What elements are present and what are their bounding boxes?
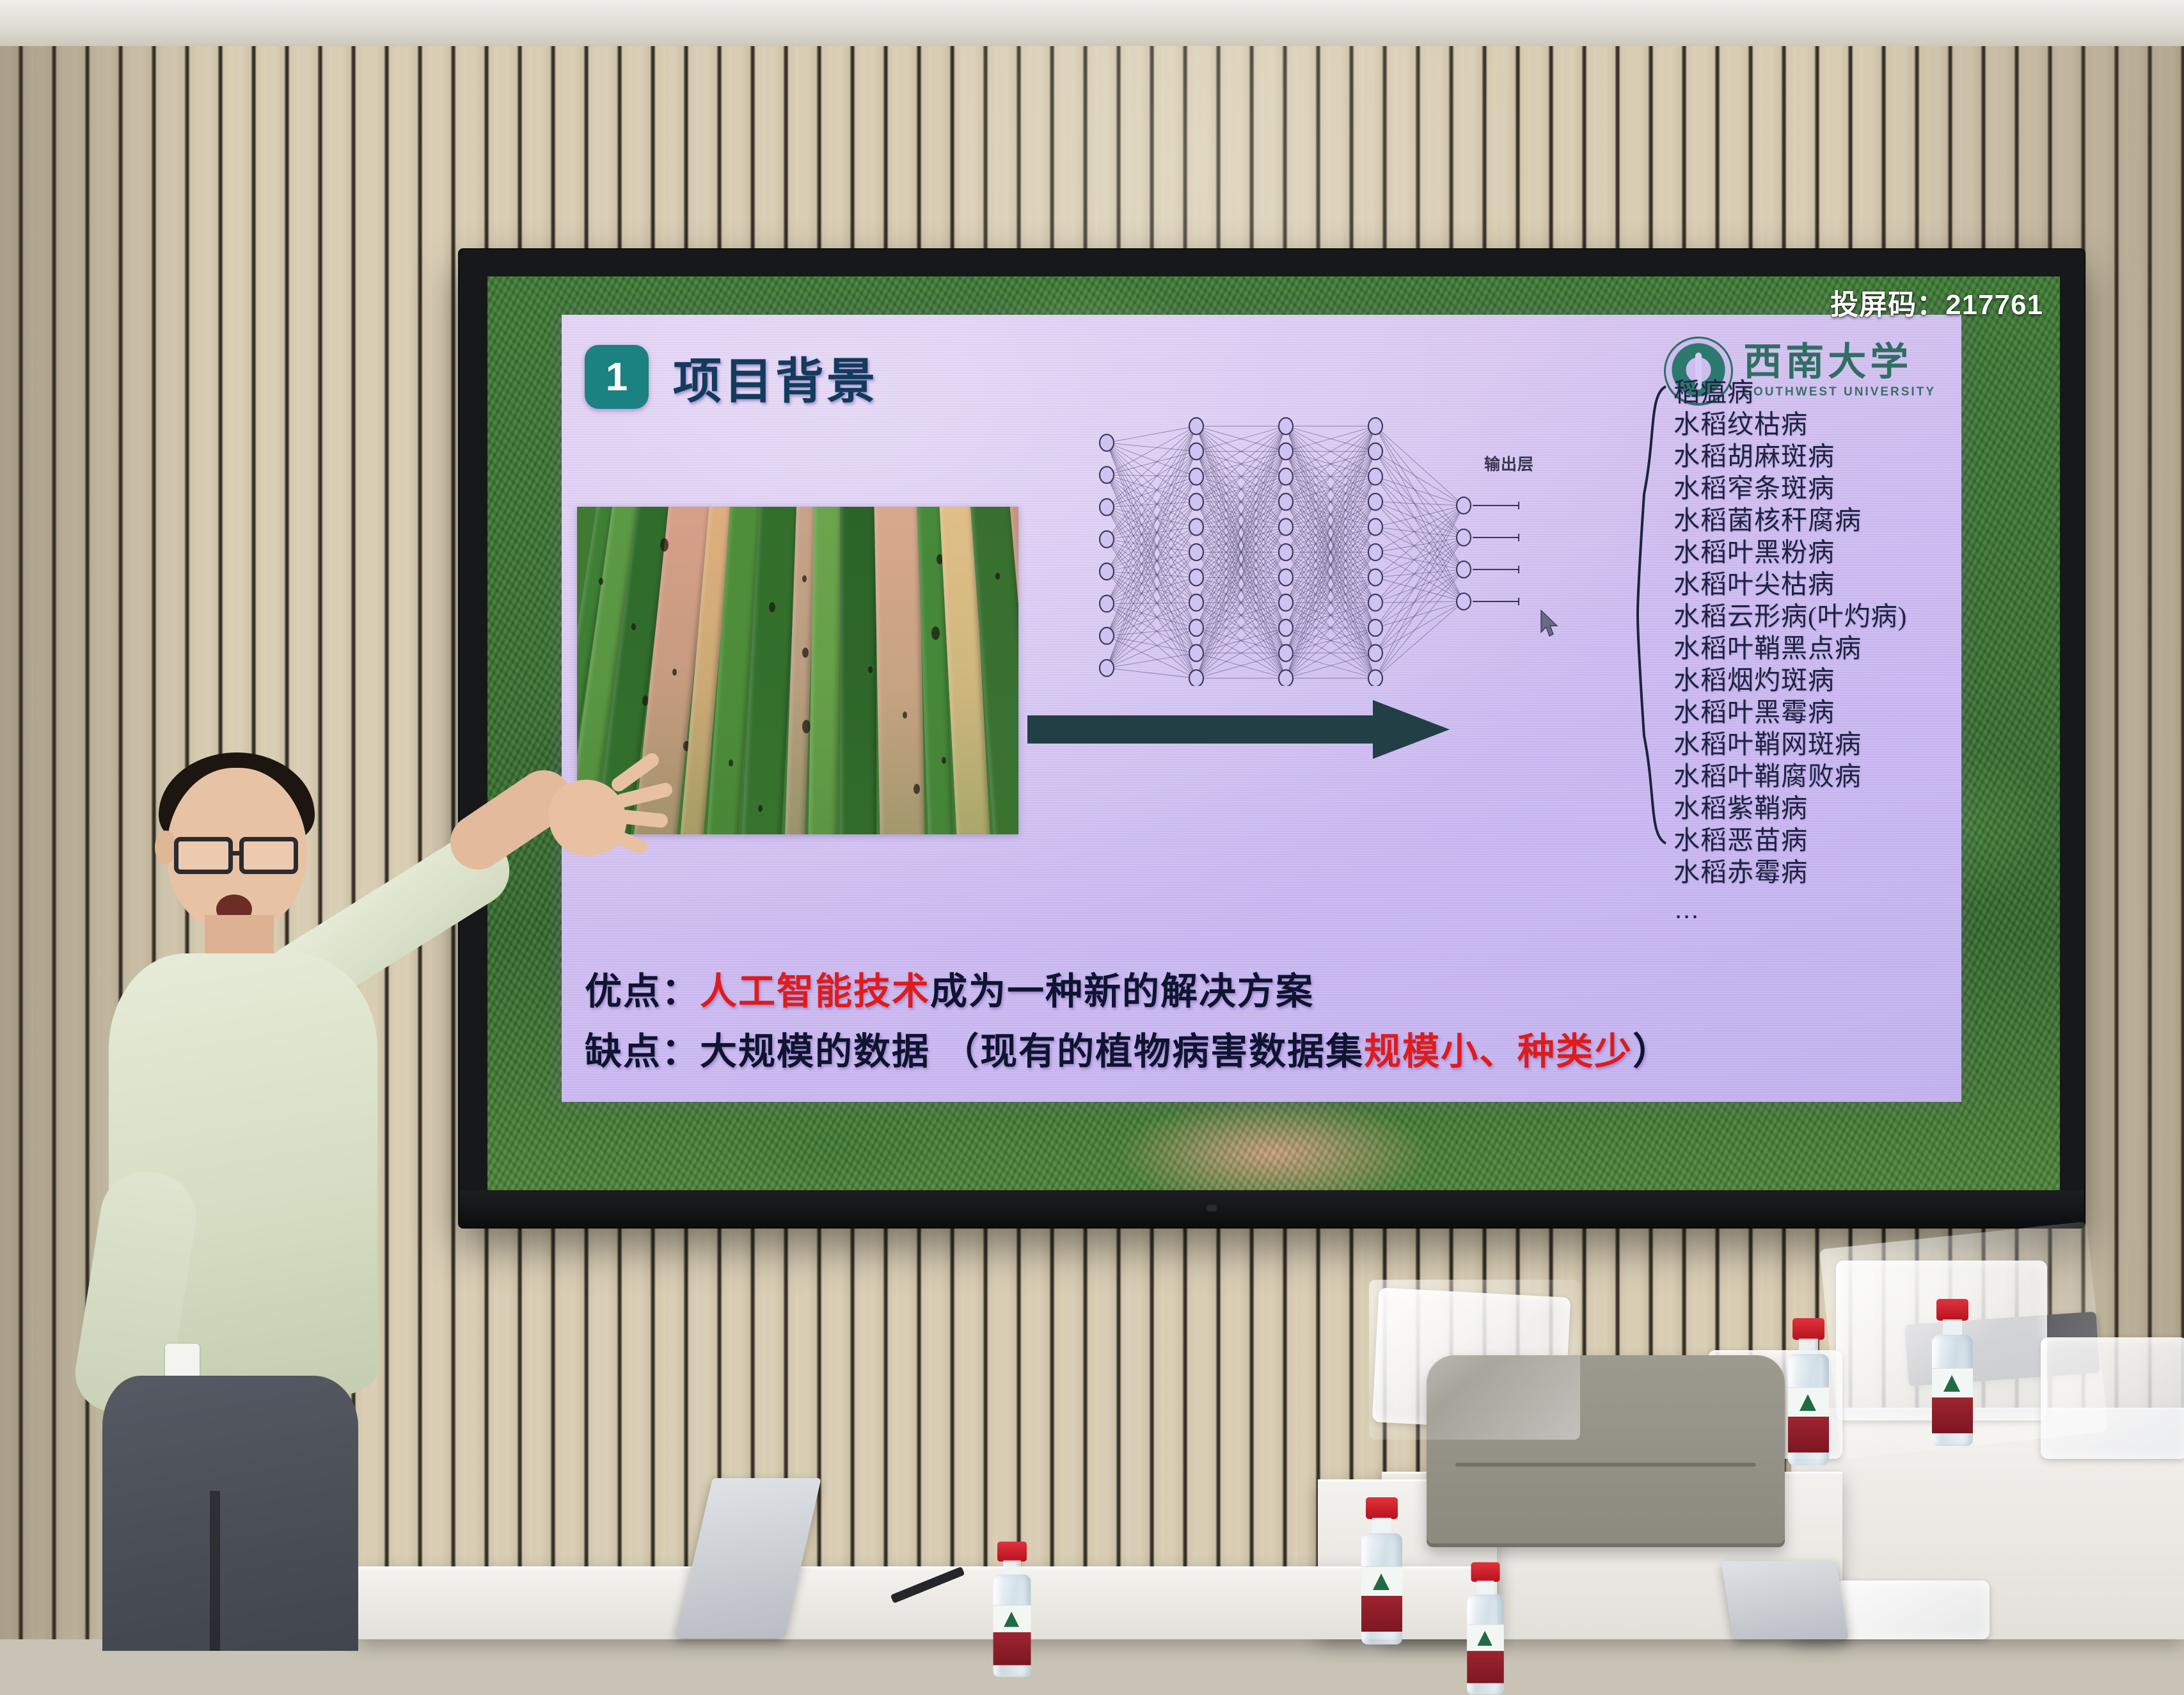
disease-list-item: 稻瘟病	[1674, 376, 1907, 408]
advantage-highlight: 人工智能技术	[700, 971, 930, 1012]
water-bottle-2[interactable]	[1932, 1299, 1973, 1446]
leaf-lesion-spot	[758, 805, 763, 812]
bottle-label-lower	[1788, 1417, 1829, 1452]
leaf-lesion-spot	[769, 602, 775, 612]
leaf-lesion-spot	[660, 538, 669, 552]
display-screen[interactable]: 投屏码：217761 1 项目背景 西南大学 SOUTHWEST UNIVERS…	[487, 276, 2060, 1190]
bottle-label-lower	[1467, 1651, 1504, 1683]
leaf-lesion-spot	[802, 648, 809, 658]
projection-code-label: 投屏码：217761	[1830, 282, 2043, 322]
slide-header: 1 项目背景	[585, 342, 878, 412]
disease-list-item: 水稻纹枯病	[1674, 408, 1907, 440]
leaf-lesion-spot	[729, 760, 733, 767]
table-papers	[1836, 1580, 1990, 1639]
bottle-label-upper	[993, 1605, 1031, 1632]
disease-list-item: 水稻叶黑粉病	[1674, 536, 1907, 568]
leaf-lesion-spot	[631, 623, 636, 630]
bottle-label-upper	[1788, 1387, 1829, 1417]
water-bottle-5[interactable]	[993, 1541, 1031, 1677]
disease-list-item: 水稻叶尖枯病	[1674, 568, 1907, 600]
conference-room: 投屏码：217761 1 项目背景 西南大学 SOUTHWEST UNIVERS…	[0, 0, 2184, 1639]
disease-list-item: 水稻叶鞘腐败病	[1674, 760, 1907, 792]
conclusion-text-block: 优点：人工智能技术成为一种新的解决方案 缺点：大规模的数据 （现有的植物病害数据…	[585, 961, 1671, 1075]
leaf-lesion-spot	[914, 784, 920, 794]
curly-brace-icon	[1636, 385, 1667, 845]
leaf-lesion-spot	[931, 626, 940, 640]
bottle-cap	[1471, 1563, 1500, 1582]
leaf-lesion-spot	[599, 578, 603, 585]
presenter-person	[13, 729, 499, 1644]
presenter-leg-seam	[210, 1491, 220, 1651]
bottle-label-upper	[1361, 1566, 1402, 1596]
neural-network-diagram: 输出层	[1080, 417, 1528, 686]
presenter-trousers	[102, 1376, 358, 1651]
disease-list-item: 水稻菌核秆腐病	[1674, 504, 1907, 536]
leaf-lesion-spot	[802, 575, 807, 582]
disease-list-more: …	[1674, 888, 1907, 930]
section-number-badge: 1	[585, 345, 649, 409]
disadvantage-suffix: ）	[1633, 1031, 1671, 1072]
flow-arrow-icon	[1027, 699, 1450, 760]
laptop-screen-right[interactable]	[1721, 1561, 1848, 1639]
disease-list-item: 水稻叶鞘黑点病	[1674, 632, 1907, 664]
bottle-cap	[997, 1541, 1027, 1561]
advantage-line: 优点：人工智能技术成为一种新的解决方案	[585, 961, 1671, 1015]
leaf-lesion-spot	[868, 666, 873, 673]
leaf-lesion-spot	[903, 712, 907, 719]
advantage-prefix: 优点：	[585, 971, 700, 1012]
presenter-glasses-bridge	[232, 851, 242, 855]
presentation-slide: 1 项目背景 西南大学 SOUTHWEST UNIVERSITY 输出层	[562, 315, 1961, 1102]
leaf-lesion-spot	[995, 573, 1000, 580]
bottle-label-lower	[1932, 1397, 1973, 1433]
disease-list-item: 水稻叶鞘网斑病	[1674, 728, 1907, 760]
disadvantage-line: 缺点：大规模的数据 （现有的植物病害数据集规模小、种类少）	[585, 1021, 1671, 1075]
plastic-sheet-2	[1369, 1280, 1580, 1440]
mouse-cursor-icon	[1540, 609, 1559, 637]
advantage-rest: 成为一种新的解决方案	[930, 971, 1314, 1012]
disease-list-item: 水稻云形病(叶灼病)	[1674, 600, 1907, 632]
disease-list-item: 水稻紫鞘病	[1674, 792, 1907, 824]
diseased-rice-leaves-photo	[577, 507, 1018, 834]
wall-display[interactable]: 投屏码：217761 1 项目背景 西南大学 SOUTHWEST UNIVERS…	[459, 250, 2084, 1227]
disadvantage-highlight: 规模小、种类少	[1364, 1031, 1633, 1072]
bottle-cap	[1792, 1318, 1824, 1340]
disease-list-item: 水稻叶黑霉病	[1674, 696, 1907, 728]
disease-list-item: 水稻胡麻斑病	[1674, 440, 1907, 472]
leaf-lesion-spot	[942, 757, 946, 764]
leaf-lesion-spot	[802, 720, 811, 733]
presenter-glasses-left-lens	[174, 837, 233, 874]
bottle-cap	[1366, 1497, 1398, 1519]
display-bottom-bezel	[459, 1190, 2084, 1227]
disease-list-item: 水稻烟灼斑病	[1674, 664, 1907, 696]
leaf-lesion-spot	[672, 669, 677, 676]
bottle-label-upper	[1467, 1625, 1504, 1651]
page-title: 项目背景	[673, 342, 878, 412]
presenter-glasses-right-lens	[239, 837, 298, 874]
water-bottle-4[interactable]	[1467, 1563, 1504, 1695]
disease-list-item: 水稻恶苗病	[1674, 824, 1907, 856]
ceiling	[0, 0, 2184, 51]
bottle-label-lower	[1361, 1596, 1402, 1632]
bottle-label-upper	[1932, 1368, 1973, 1397]
rice-disease-list: 稻瘟病水稻纹枯病水稻胡麻斑病水稻窄条斑病水稻菌核秆腐病水稻叶黑粉病水稻叶尖枯病水…	[1674, 376, 1907, 930]
bottle-cap	[1936, 1299, 1968, 1321]
presenter-ear	[155, 831, 177, 864]
disease-list-item: 水稻赤霉病	[1674, 856, 1907, 888]
front-conference-table	[358, 1566, 1497, 1639]
water-bottle-3[interactable]	[1361, 1497, 1402, 1644]
rice-leaf	[808, 507, 843, 834]
university-name-cn: 西南大学	[1743, 343, 1912, 381]
bottle-label-lower	[993, 1632, 1031, 1666]
water-bottle-1[interactable]	[1788, 1318, 1829, 1465]
output-layer-label: 输出层	[1484, 452, 1534, 475]
disadvantage-prefix: 缺点：大规模的数据 （现有的植物病害数据集	[585, 1031, 1364, 1072]
disease-list-item: 水稻窄条斑病	[1674, 472, 1907, 504]
